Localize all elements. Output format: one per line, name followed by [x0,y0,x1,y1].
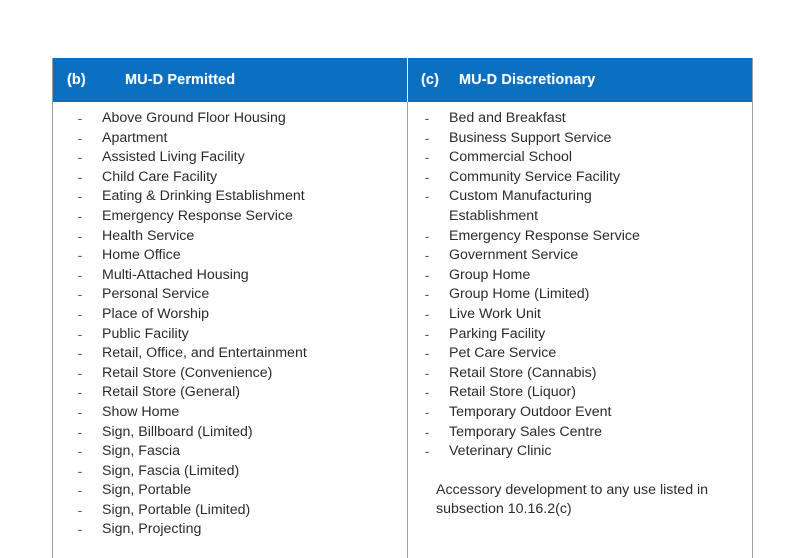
permitted-use-label: Sign, Projecting [102,520,407,540]
bullet-icon: - [418,168,436,188]
discretionary-use-label: Commercial School [449,148,752,168]
discretionary-use-label: Temporary Sales Centre [449,423,752,443]
list-item: -Home Office [53,246,407,266]
discretionary-use-label: Retail Store (Liquor) [449,383,752,403]
list-item: -Government Service [408,246,752,266]
list-item: -Sign, Portable [53,481,407,501]
discretionary-use-label: Bed and Breakfast [449,109,752,129]
list-item: -Personal Service [53,285,407,305]
bullet-icon: - [71,344,89,364]
list-item: -Place of Worship [53,305,407,325]
bullet-icon: - [418,148,436,168]
discretionary-use-list: -Bed and Breakfast-Business Support Serv… [408,109,752,462]
list-item: -Temporary Outdoor Event [408,403,752,423]
bullet-icon: - [418,442,436,462]
bullet-icon: - [71,246,89,266]
list-item: -Sign, Projecting [53,520,407,540]
list-item: -Apartment [53,129,407,149]
list-item: -Sign, Fascia [53,442,407,462]
list-item: -Emergency Response Service [408,227,752,247]
discretionary-use-label: Veterinary Clinic [449,442,752,462]
list-item: -Above Ground Floor Housing [53,109,407,129]
permitted-use-label: Home Office [102,246,407,266]
list-item: -Show Home [53,403,407,423]
list-item: -Sign, Billboard (Limited) [53,423,407,443]
column-tag-c: (c) [421,72,445,88]
list-item: -Live Work Unit [408,305,752,325]
list-item: -Multi-Attached Housing [53,266,407,286]
column-header-permitted: (b) MU-D Permitted [53,58,408,102]
use-table: (b) MU-D Permitted (c) MU-D Discretionar… [52,58,753,558]
discretionary-use-label: Community Service Facility [449,168,752,188]
list-item: -Parking Facility [408,325,752,345]
table-body: -Above Ground Floor Housing-Apartment-As… [53,102,752,558]
list-item: -Emergency Response Service [53,207,407,227]
discretionary-use-label: Emergency Response Service [449,227,752,247]
bullet-icon: - [71,403,89,423]
list-item: -Retail Store (Convenience) [53,364,407,384]
list-item: -Sign, Portable (Limited) [53,501,407,521]
table-header-row: (b) MU-D Permitted (c) MU-D Discretionar… [53,58,752,102]
list-item: -Commercial School [408,148,752,168]
list-item: -Child Care Facility [53,168,407,188]
bullet-icon: - [418,423,436,443]
bullet-icon: - [418,266,436,286]
discretionary-use-label: Parking Facility [449,325,752,345]
permitted-use-label: Sign, Fascia [102,442,407,462]
list-item: -Group Home [408,266,752,286]
list-item: -Assisted Living Facility [53,148,407,168]
bullet-icon: - [418,246,436,266]
discretionary-use-label: Group Home (Limited) [449,285,752,305]
bullet-icon: - [71,207,89,227]
list-item: -Temporary Sales Centre [408,423,752,443]
bullet-icon: - [71,129,89,149]
bullet-icon: - [418,285,436,305]
discretionary-use-label: Temporary Outdoor Event [449,403,752,423]
permitted-use-label: Public Facility [102,325,407,345]
bullet-icon: - [418,325,436,345]
permitted-use-label: Assisted Living Facility [102,148,407,168]
bullet-icon: - [418,364,436,384]
list-item: -Community Service Facility [408,168,752,188]
permitted-use-label: Above Ground Floor Housing [102,109,407,129]
discretionary-use-label: Business Support Service [449,129,752,149]
list-item: -Retail Store (Liquor) [408,383,752,403]
discretionary-use-label: Custom Manufacturing [449,187,752,207]
permitted-use-label: Retail Store (General) [102,383,407,403]
bullet-icon: - [71,305,89,325]
bullet-icon: - [71,266,89,286]
permitted-use-label: Retail, Office, and Entertainment [102,344,407,364]
list-item: -Veterinary Clinic [408,442,752,462]
bullet-icon: - [418,187,436,207]
permitted-use-label: Health Service [102,227,407,247]
bullet-icon: - [418,383,436,403]
bullet-icon: - [71,325,89,345]
bullet-icon: - [71,364,89,384]
permitted-use-label: Emergency Response Service [102,207,407,227]
list-item: -Public Facility [53,325,407,345]
list-item: -Business Support Service [408,129,752,149]
permitted-use-label: Child Care Facility [102,168,407,188]
permitted-use-label: Eating & Drinking Establishment [102,187,407,207]
bullet-icon: - [71,462,89,482]
discretionary-use-label: Establishment [449,207,752,227]
discretionary-footnote: Accessory development to any use listed … [436,481,736,520]
list-item: -Group Home (Limited) [408,285,752,305]
column-tag-b: (b) [67,72,91,88]
list-item: -Health Service [53,227,407,247]
bullet-icon: - [71,520,89,540]
bullet-icon: - [71,481,89,501]
list-item: -Retail, Office, and Entertainment [53,344,407,364]
bullet-icon: - [418,109,436,129]
permitted-use-label: Show Home [102,403,407,423]
discretionary-use-label: Group Home [449,266,752,286]
bullet-icon: - [418,129,436,149]
list-item: -Custom Manufacturing [408,187,752,207]
discretionary-use-label: Government Service [449,246,752,266]
permitted-use-list: -Above Ground Floor Housing-Apartment-As… [53,109,407,540]
bullet-icon: - [71,187,89,207]
discretionary-use-label: Live Work Unit [449,305,752,325]
bullet-icon: - [71,501,89,521]
column-header-discretionary: (c) MU-D Discretionary [408,58,752,102]
bullet-icon: - [71,148,89,168]
permitted-use-label: Sign, Fascia (Limited) [102,462,407,482]
permitted-use-label: Personal Service [102,285,407,305]
permitted-use-label: Place of Worship [102,305,407,325]
bullet-icon: - [418,344,436,364]
bullet-icon: - [418,227,436,247]
bullet-icon: - [71,285,89,305]
list-item: -Pet Care Service [408,344,752,364]
permitted-use-label: Sign, Portable (Limited) [102,501,407,521]
list-item: -Retail Store (General) [53,383,407,403]
permitted-use-label: Apartment [102,129,407,149]
discretionary-use-label: Pet Care Service [449,344,752,364]
bullet-icon: - [418,403,436,423]
bullet-icon: - [418,305,436,325]
list-item: -Bed and Breakfast [408,109,752,129]
bullet-icon: - [71,168,89,188]
permitted-use-label: Retail Store (Convenience) [102,364,407,384]
list-item: -Eating & Drinking Establishment [53,187,407,207]
permitted-use-label: Multi-Attached Housing [102,266,407,286]
bullet-icon: - [71,442,89,462]
bullet-icon: - [71,109,89,129]
bullet-icon: - [71,383,89,403]
column-permitted: -Above Ground Floor Housing-Apartment-As… [53,102,408,558]
permitted-use-label: Sign, Billboard (Limited) [102,423,407,443]
column-discretionary: -Bed and Breakfast-Business Support Serv… [408,102,752,558]
column-title-permitted: MU-D Permitted [125,72,235,88]
permitted-use-label: Sign, Portable [102,481,407,501]
discretionary-use-label: Retail Store (Cannabis) [449,364,752,384]
list-item: -Establishment [408,207,752,227]
list-item: -Retail Store (Cannabis) [408,364,752,384]
bullet-icon: - [71,423,89,443]
column-title-discretionary: MU-D Discretionary [459,72,595,88]
list-item: -Sign, Fascia (Limited) [53,462,407,482]
bullet-icon: - [71,227,89,247]
